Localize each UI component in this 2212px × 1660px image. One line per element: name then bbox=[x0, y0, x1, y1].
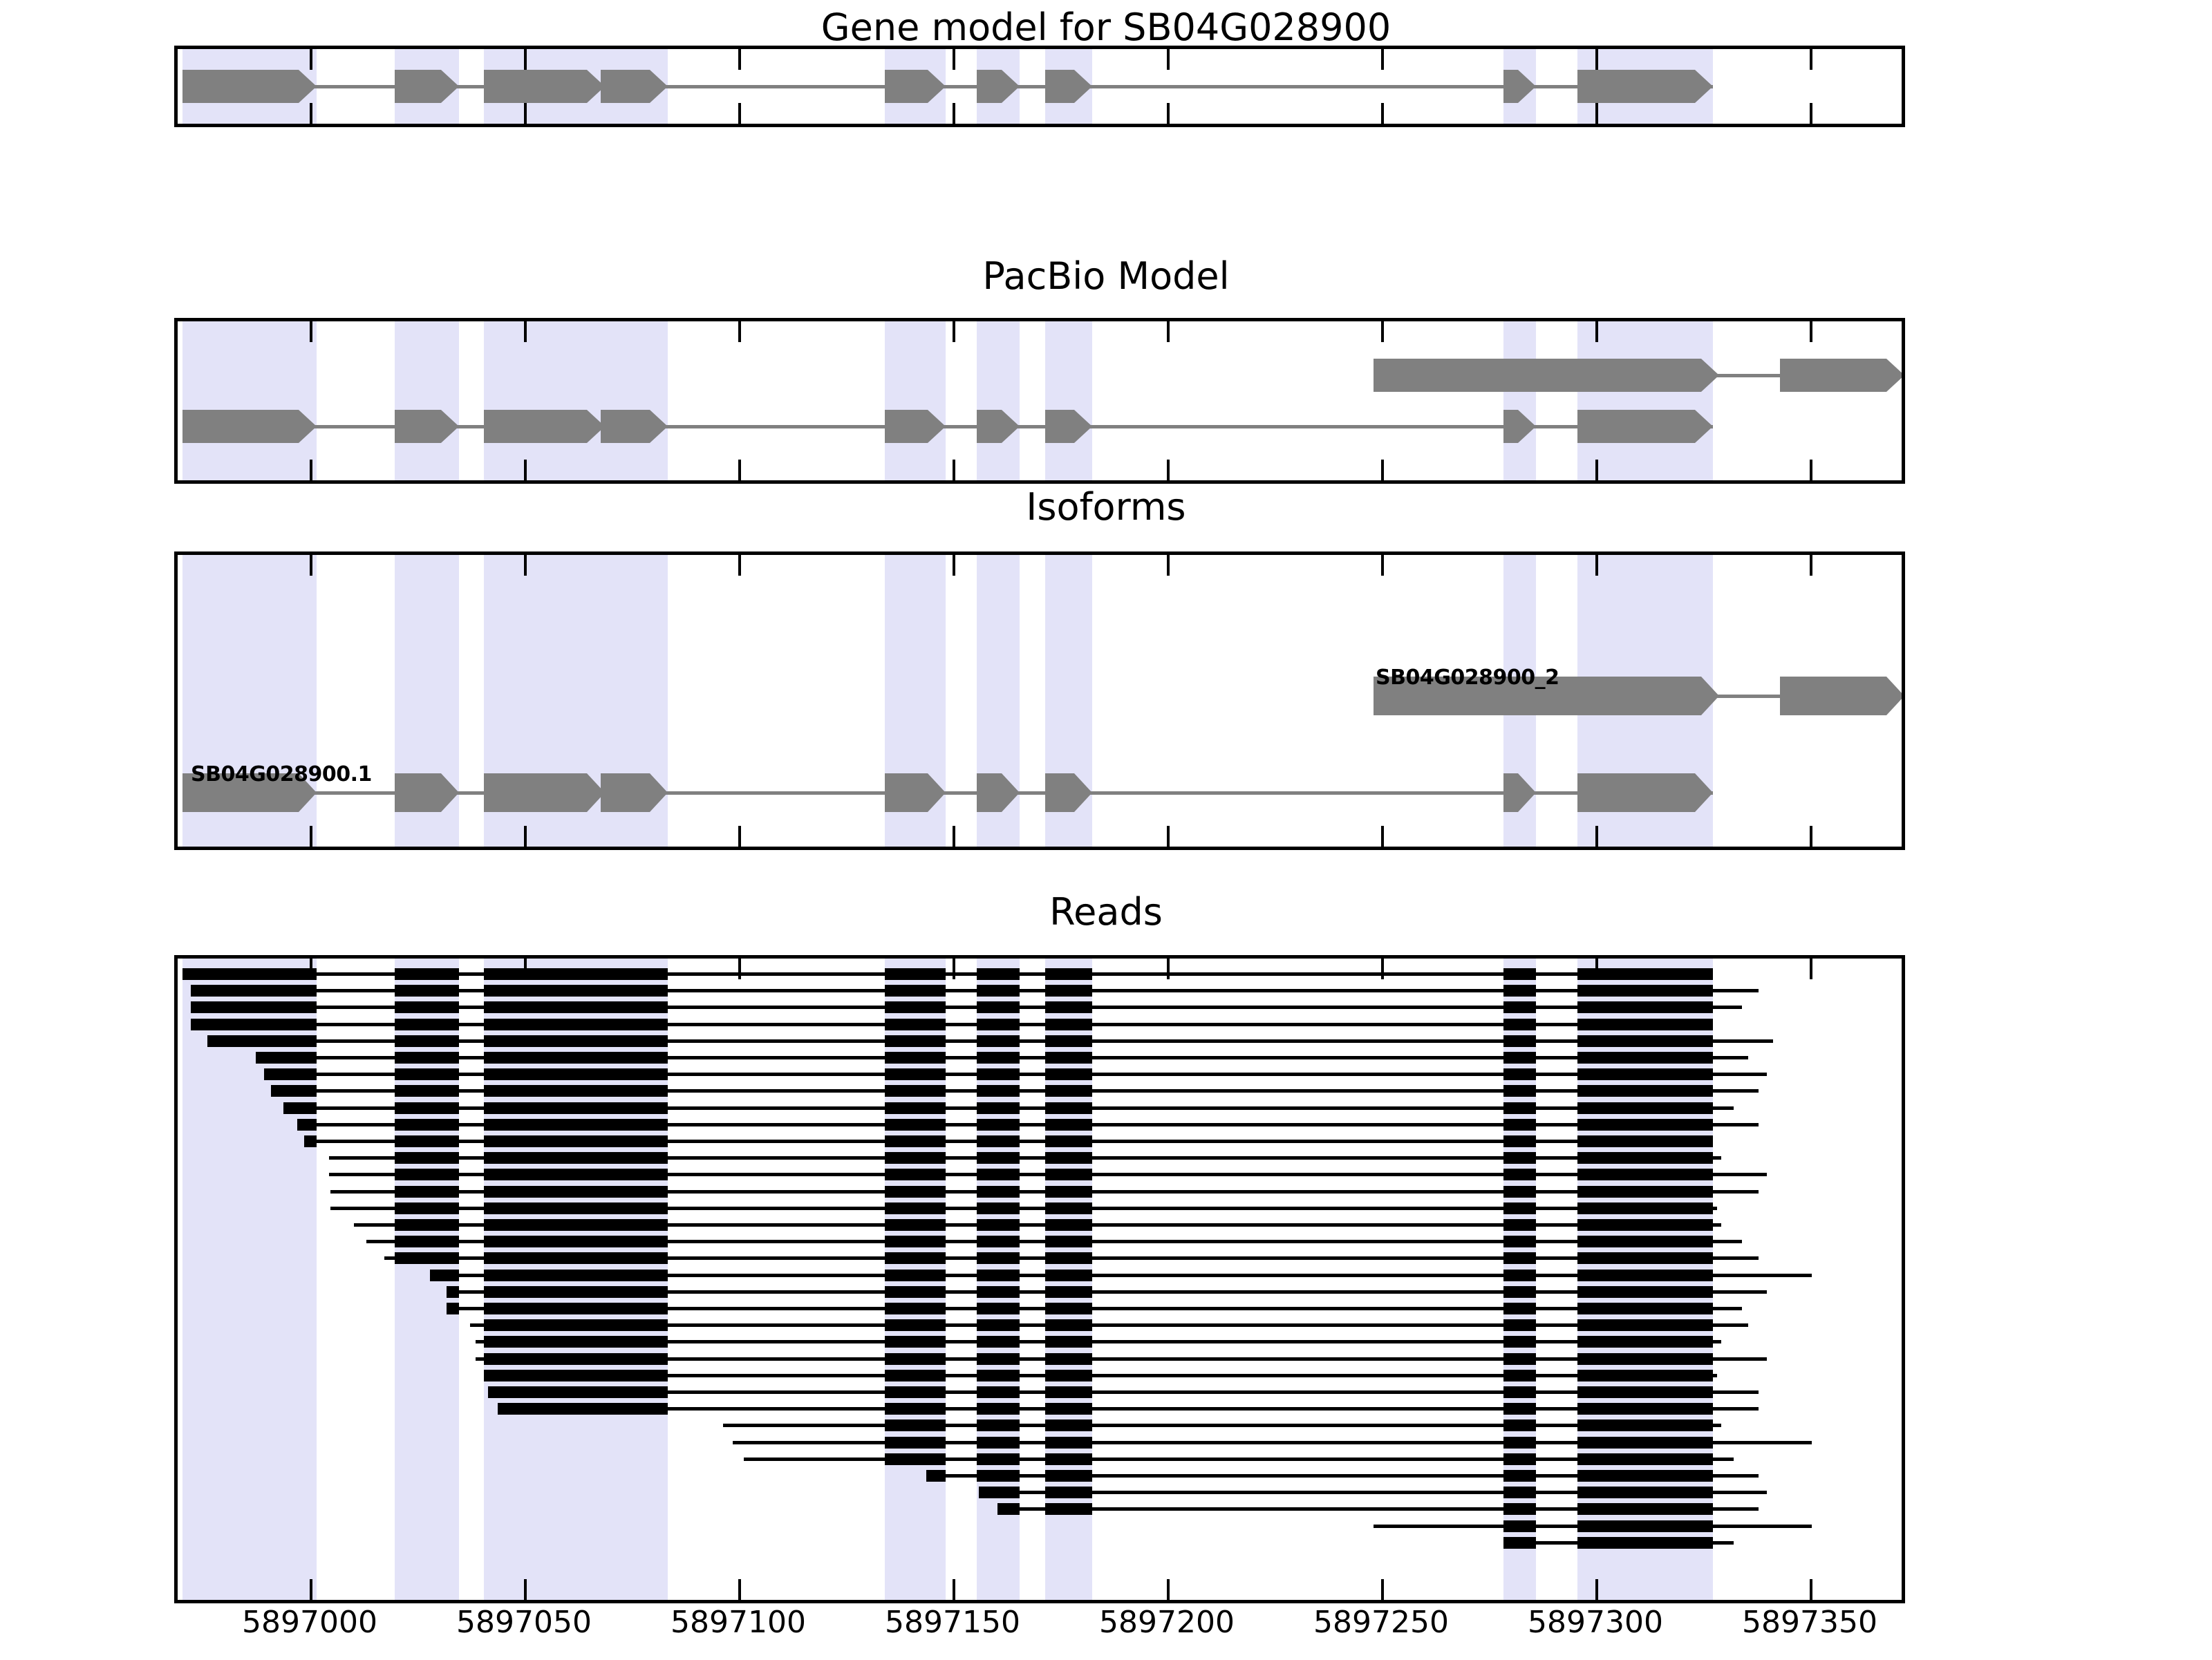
read-exon-block bbox=[1503, 1001, 1536, 1013]
exon-block bbox=[484, 410, 605, 443]
read-exon-block bbox=[484, 1336, 605, 1348]
read-exon-block bbox=[283, 1102, 317, 1114]
read-exon-block bbox=[1577, 1319, 1713, 1331]
read-exon-block bbox=[1503, 1035, 1536, 1047]
read-exon-block bbox=[1577, 1386, 1713, 1398]
read-exon-block bbox=[885, 1370, 946, 1381]
axis-tick-mark bbox=[953, 460, 955, 480]
read-exon-block bbox=[395, 1019, 459, 1030]
read-exon-block bbox=[601, 1202, 668, 1214]
reads-panel bbox=[174, 955, 1905, 1603]
exon-highlight-band bbox=[1503, 321, 1536, 480]
exon-block bbox=[1780, 359, 1904, 392]
read-exon-block bbox=[1503, 1420, 1536, 1431]
read-exon-block bbox=[395, 1001, 459, 1013]
read-exon-block bbox=[1045, 1035, 1092, 1047]
read-exon-block bbox=[1577, 1537, 1713, 1549]
read-exon-block bbox=[977, 1420, 1020, 1431]
axis-tick-mark bbox=[1810, 460, 1812, 480]
gene-model-panel bbox=[174, 46, 1905, 127]
axis-tick-mark bbox=[953, 555, 955, 576]
read-exon-block bbox=[601, 1052, 668, 1064]
read-exon-block bbox=[601, 1169, 668, 1180]
read-exon-block bbox=[1045, 1052, 1092, 1064]
read-exon-block bbox=[977, 1152, 1020, 1164]
read-exon-block bbox=[1045, 1068, 1092, 1080]
read-exon-block bbox=[1045, 1403, 1092, 1415]
read-exon-block bbox=[977, 1470, 1020, 1482]
axis-tick-mark bbox=[1595, 49, 1598, 70]
exon-highlight-band bbox=[182, 321, 317, 480]
read-exon-block bbox=[1503, 1453, 1536, 1465]
axis-tick-mark bbox=[1381, 321, 1384, 342]
axis-tick-mark bbox=[738, 103, 741, 124]
read-exon-block bbox=[1503, 1386, 1536, 1398]
read-exon-block bbox=[484, 1085, 605, 1097]
read-exon-block bbox=[885, 1068, 946, 1080]
read-exon-block bbox=[1577, 1270, 1713, 1281]
read-exon-block bbox=[1503, 968, 1536, 980]
read-exon-block bbox=[601, 1219, 668, 1231]
read-exon-block bbox=[885, 1319, 946, 1331]
read-exon-block bbox=[601, 1370, 668, 1381]
read-exon-block bbox=[484, 1152, 605, 1164]
read-exon-block bbox=[601, 1270, 668, 1281]
read-exon-block bbox=[1045, 1186, 1092, 1198]
exon-block bbox=[484, 70, 605, 103]
read-exon-block bbox=[1577, 1052, 1713, 1064]
isoform-label: SB04G028900_2 bbox=[1376, 666, 1559, 690]
read-exon-block bbox=[304, 1135, 317, 1147]
exon-highlight-band bbox=[1045, 321, 1092, 480]
read-exon-block bbox=[395, 1068, 459, 1080]
read-exon-block bbox=[977, 1186, 1020, 1198]
read-exon-block bbox=[977, 1386, 1020, 1398]
isoforms-panel: SB04G028900_2SB04G028900.1 bbox=[174, 551, 1905, 850]
read-intron-line bbox=[488, 1390, 1759, 1394]
read-exon-block bbox=[1045, 1219, 1092, 1231]
read-exon-block bbox=[1577, 1470, 1713, 1482]
read-exon-block bbox=[979, 1487, 1020, 1498]
read-exon-block bbox=[601, 1102, 668, 1114]
read-exon-block bbox=[191, 1019, 317, 1030]
read-exon-block bbox=[885, 1437, 946, 1449]
read-exon-block bbox=[885, 1219, 946, 1231]
read-exon-block bbox=[601, 985, 668, 997]
read-exon-block bbox=[1577, 1520, 1713, 1532]
read-exon-block bbox=[977, 1403, 1020, 1415]
read-exon-block bbox=[484, 1353, 605, 1365]
read-exon-block bbox=[601, 1286, 668, 1298]
read-exon-block bbox=[1577, 968, 1713, 980]
axis-tick-mark bbox=[310, 826, 312, 847]
read-exon-block bbox=[1577, 1336, 1713, 1348]
axis-tick-mark bbox=[1167, 1579, 1170, 1600]
read-exon-block bbox=[1577, 1102, 1713, 1114]
axis-tick-mark bbox=[1810, 49, 1812, 70]
read-exon-block bbox=[1503, 1503, 1536, 1515]
read-exon-block bbox=[885, 1119, 946, 1131]
read-exon-block bbox=[997, 1503, 1020, 1515]
read-exon-block bbox=[601, 1035, 668, 1047]
axis-tick-mark bbox=[524, 460, 527, 480]
exon-block bbox=[1780, 677, 1904, 715]
read-exon-block bbox=[977, 1068, 1020, 1080]
exon-block bbox=[1577, 70, 1713, 103]
read-exon-block bbox=[977, 1035, 1020, 1047]
reads-title: Reads bbox=[0, 890, 2212, 934]
read-exon-block bbox=[977, 1336, 1020, 1348]
read-exon-block bbox=[1503, 1370, 1536, 1381]
axis-tick-mark bbox=[1381, 959, 1384, 979]
read-exon-block bbox=[1577, 1119, 1713, 1131]
read-exon-block bbox=[395, 1052, 459, 1064]
read-exon-block bbox=[885, 1353, 946, 1365]
read-exon-block bbox=[484, 1052, 605, 1064]
read-exon-block bbox=[601, 1135, 668, 1147]
read-exon-block bbox=[885, 968, 946, 980]
read-exon-block bbox=[1577, 1169, 1713, 1180]
read-exon-block bbox=[447, 1303, 459, 1314]
read-exon-block bbox=[977, 1001, 1020, 1013]
read-exon-block bbox=[1045, 1102, 1092, 1114]
read-exon-block bbox=[885, 1052, 946, 1064]
axis-tick-mark bbox=[738, 826, 741, 847]
read-exon-block bbox=[1577, 1303, 1713, 1314]
read-exon-block bbox=[977, 1052, 1020, 1064]
read-exon-block bbox=[601, 1303, 668, 1314]
read-exon-block bbox=[1045, 1503, 1092, 1515]
read-exon-block bbox=[264, 1068, 317, 1080]
read-exon-block bbox=[1577, 1152, 1713, 1164]
read-exon-block bbox=[395, 1252, 459, 1264]
axis-tick-mark bbox=[524, 555, 527, 576]
read-exon-block bbox=[601, 1186, 668, 1198]
read-exon-block bbox=[395, 1135, 459, 1147]
read-exon-block bbox=[977, 968, 1020, 980]
read-exon-block bbox=[885, 1403, 946, 1415]
exon-highlight-band bbox=[601, 321, 668, 480]
read-exon-block bbox=[885, 1135, 946, 1147]
read-exon-block bbox=[1503, 1437, 1536, 1449]
isoform-label: SB04G028900.1 bbox=[191, 762, 372, 786]
read-exon-block bbox=[885, 1336, 946, 1348]
axis-tick-mark bbox=[953, 959, 955, 979]
axis-tick-mark bbox=[738, 555, 741, 576]
read-exon-block bbox=[977, 1286, 1020, 1298]
read-exon-block bbox=[484, 1286, 605, 1298]
read-exon-block bbox=[484, 1135, 605, 1147]
read-exon-block bbox=[395, 1186, 459, 1198]
read-exon-block bbox=[1577, 1001, 1713, 1013]
read-exon-block bbox=[1045, 1437, 1092, 1449]
axis-tick-mark bbox=[310, 460, 312, 480]
read-exon-block bbox=[498, 1403, 605, 1415]
read-exon-block bbox=[977, 985, 1020, 997]
read-exon-block bbox=[1503, 1119, 1536, 1131]
read-exon-block bbox=[601, 1068, 668, 1080]
read-exon-block bbox=[601, 1336, 668, 1348]
read-exon-block bbox=[977, 1319, 1020, 1331]
read-exon-block bbox=[488, 1386, 605, 1398]
axis-tick-mark bbox=[310, 49, 312, 70]
read-exon-block bbox=[1503, 1470, 1536, 1482]
figure-canvas: Gene model for SB04G028900 PacBio Model … bbox=[0, 0, 2212, 1659]
read-exon-block bbox=[885, 1202, 946, 1214]
read-exon-block bbox=[271, 1085, 317, 1097]
read-exon-block bbox=[1045, 1420, 1092, 1431]
axis-tick-mark bbox=[1167, 959, 1170, 979]
read-exon-block bbox=[1577, 1487, 1713, 1498]
read-exon-block bbox=[601, 1353, 668, 1365]
x-tick-label: 5897100 bbox=[628, 1605, 849, 1640]
axis-tick-mark bbox=[310, 321, 312, 342]
axis-tick-mark bbox=[1595, 103, 1598, 124]
read-exon-block bbox=[885, 1386, 946, 1398]
read-exon-block bbox=[1577, 1403, 1713, 1415]
axis-tick-mark bbox=[1167, 826, 1170, 847]
read-exon-block bbox=[1577, 1085, 1713, 1097]
read-exon-block bbox=[1503, 1068, 1536, 1080]
read-exon-block bbox=[191, 985, 317, 997]
read-exon-block bbox=[1503, 1085, 1536, 1097]
isoforms-title: Isoforms bbox=[0, 485, 2212, 529]
axis-tick-mark bbox=[1810, 555, 1812, 576]
read-exon-block bbox=[430, 1270, 459, 1281]
read-exon-block bbox=[1503, 1102, 1536, 1114]
axis-tick-mark bbox=[738, 460, 741, 480]
exon-highlight-band bbox=[1577, 321, 1713, 480]
read-exon-block bbox=[1503, 1286, 1536, 1298]
read-exon-block bbox=[1577, 1420, 1713, 1431]
x-axis-tick-labels: 5897000589705058971005897150589720058972… bbox=[0, 1605, 2212, 1660]
read-exon-block bbox=[601, 1001, 668, 1013]
read-exon-block bbox=[885, 1453, 946, 1465]
read-exon-block bbox=[447, 1286, 459, 1298]
read-exon-block bbox=[395, 1035, 459, 1047]
read-exon-block bbox=[1577, 1068, 1713, 1080]
read-exon-block bbox=[484, 968, 605, 980]
axis-tick-mark bbox=[524, 103, 527, 124]
axis-tick-mark bbox=[1810, 321, 1812, 342]
read-exon-block bbox=[484, 1202, 605, 1214]
read-exon-block bbox=[1503, 1169, 1536, 1180]
axis-tick-mark bbox=[1381, 1579, 1384, 1600]
read-exon-block bbox=[1503, 1319, 1536, 1331]
read-exon-block bbox=[1577, 1353, 1713, 1365]
read-exon-block bbox=[977, 1370, 1020, 1381]
read-exon-block bbox=[484, 1319, 605, 1331]
axis-tick-mark bbox=[953, 826, 955, 847]
read-exon-block bbox=[1045, 1085, 1092, 1097]
read-exon-block bbox=[1045, 1270, 1092, 1281]
read-exon-block bbox=[256, 1052, 317, 1064]
read-exon-block bbox=[1045, 1019, 1092, 1030]
axis-tick-mark bbox=[1810, 1579, 1812, 1600]
read-exon-block bbox=[1045, 1252, 1092, 1264]
read-exon-block bbox=[484, 1370, 605, 1381]
read-exon-block bbox=[1577, 1437, 1713, 1449]
read-exon-block bbox=[1503, 1152, 1536, 1164]
read-exon-block bbox=[395, 968, 459, 980]
read-exon-block bbox=[1045, 1386, 1092, 1398]
read-exon-block bbox=[484, 1186, 605, 1198]
exon-highlight-band bbox=[395, 321, 459, 480]
read-exon-block bbox=[885, 985, 946, 997]
read-exon-block bbox=[977, 1169, 1020, 1180]
read-exon-block bbox=[885, 1169, 946, 1180]
axis-tick-mark bbox=[1167, 555, 1170, 576]
axis-tick-mark bbox=[953, 1579, 955, 1600]
axis-tick-mark bbox=[1810, 959, 1812, 979]
read-intron-line bbox=[476, 1357, 1767, 1361]
read-exon-block bbox=[297, 1119, 317, 1131]
read-exon-block bbox=[885, 1186, 946, 1198]
read-exon-block bbox=[1045, 1470, 1092, 1482]
pacbio-model-title: PacBio Model bbox=[0, 254, 2212, 298]
read-exon-block bbox=[1045, 1286, 1092, 1298]
read-exon-block bbox=[207, 1035, 317, 1047]
read-exon-block bbox=[182, 968, 317, 980]
read-exon-block bbox=[1503, 1353, 1536, 1365]
read-exon-block bbox=[977, 1236, 1020, 1247]
axis-tick-mark bbox=[738, 1579, 741, 1600]
read-exon-block bbox=[395, 1219, 459, 1231]
read-exon-block bbox=[484, 1169, 605, 1180]
read-exon-block bbox=[1045, 1303, 1092, 1314]
read-exon-block bbox=[484, 1119, 605, 1131]
read-exon-block bbox=[395, 1085, 459, 1097]
read-exon-block bbox=[885, 1303, 946, 1314]
read-exon-block bbox=[484, 1270, 605, 1281]
axis-tick-mark bbox=[1167, 103, 1170, 124]
read-exon-block bbox=[1503, 1537, 1536, 1549]
read-exon-block bbox=[1577, 1219, 1713, 1231]
read-exon-block bbox=[1503, 1270, 1536, 1281]
read-exon-block bbox=[1503, 985, 1536, 997]
axis-tick-mark bbox=[1595, 321, 1598, 342]
read-exon-block bbox=[601, 1019, 668, 1030]
read-exon-block bbox=[1045, 1453, 1092, 1465]
read-exon-block bbox=[926, 1470, 946, 1482]
read-exon-block bbox=[484, 1035, 605, 1047]
exon-block bbox=[182, 410, 317, 443]
read-exon-block bbox=[1577, 1236, 1713, 1247]
axis-tick-mark bbox=[1381, 49, 1384, 70]
read-exon-block bbox=[484, 1102, 605, 1114]
read-exon-block bbox=[1045, 1319, 1092, 1331]
axis-tick-mark bbox=[1810, 826, 1812, 847]
read-exon-block bbox=[977, 1119, 1020, 1131]
axis-tick-mark bbox=[310, 103, 312, 124]
read-exon-block bbox=[1577, 1503, 1713, 1515]
read-exon-block bbox=[977, 1102, 1020, 1114]
axis-tick-mark bbox=[953, 321, 955, 342]
read-exon-block bbox=[1045, 1336, 1092, 1348]
axis-tick-mark bbox=[310, 1579, 312, 1600]
read-exon-block bbox=[1577, 1035, 1713, 1047]
read-exon-block bbox=[1577, 1370, 1713, 1381]
read-exon-block bbox=[977, 1303, 1020, 1314]
read-intron-line bbox=[723, 1424, 1721, 1427]
axis-tick-mark bbox=[1167, 321, 1170, 342]
read-exon-block bbox=[395, 1119, 459, 1131]
read-exon-block bbox=[1503, 1219, 1536, 1231]
read-exon-block bbox=[977, 1270, 1020, 1281]
read-exon-block bbox=[1045, 1487, 1092, 1498]
read-intron-line bbox=[498, 1407, 1759, 1411]
axis-tick-mark bbox=[1595, 555, 1598, 576]
read-exon-block bbox=[1045, 1119, 1092, 1131]
axis-tick-mark bbox=[1381, 460, 1384, 480]
exon-block bbox=[1577, 773, 1713, 812]
axis-tick-mark bbox=[524, 49, 527, 70]
read-exon-block bbox=[1577, 985, 1713, 997]
axis-tick-mark bbox=[1381, 103, 1384, 124]
x-tick-label: 5897300 bbox=[1485, 1605, 1706, 1640]
x-tick-label: 5897200 bbox=[1056, 1605, 1277, 1640]
figure-title: Gene model for SB04G028900 bbox=[0, 6, 2212, 49]
read-exon-block bbox=[1045, 1370, 1092, 1381]
read-exon-block bbox=[484, 985, 605, 997]
read-exon-block bbox=[977, 1202, 1020, 1214]
read-exon-block bbox=[1045, 968, 1092, 980]
read-exon-block bbox=[977, 1437, 1020, 1449]
read-exon-block bbox=[885, 1019, 946, 1030]
read-exon-block bbox=[885, 1035, 946, 1047]
exon-highlight-band bbox=[484, 321, 605, 480]
read-exon-block bbox=[484, 1236, 605, 1247]
read-exon-block bbox=[601, 1319, 668, 1331]
read-exon-block bbox=[1503, 1403, 1536, 1415]
read-exon-block bbox=[601, 1403, 668, 1415]
read-exon-block bbox=[1503, 1019, 1536, 1030]
read-exon-block bbox=[1577, 1186, 1713, 1198]
read-exon-block bbox=[1045, 1169, 1092, 1180]
read-exon-block bbox=[1045, 1353, 1092, 1365]
axis-tick-mark bbox=[1167, 49, 1170, 70]
axis-tick-mark bbox=[1595, 1579, 1598, 1600]
read-exon-block bbox=[1503, 1236, 1536, 1247]
read-exon-block bbox=[601, 1119, 668, 1131]
read-exon-block bbox=[885, 1270, 946, 1281]
axis-tick-mark bbox=[310, 555, 312, 576]
read-exon-block bbox=[1045, 1001, 1092, 1013]
axis-tick-mark bbox=[1381, 826, 1384, 847]
read-exon-block bbox=[977, 1019, 1020, 1030]
axis-tick-mark bbox=[1595, 460, 1598, 480]
read-exon-block bbox=[885, 1286, 946, 1298]
read-exon-block bbox=[191, 1001, 317, 1013]
read-exon-block bbox=[484, 1068, 605, 1080]
exon-block bbox=[484, 773, 605, 812]
read-exon-block bbox=[1045, 1152, 1092, 1164]
read-exon-block bbox=[1503, 1520, 1536, 1532]
read-exon-block bbox=[885, 1102, 946, 1114]
axis-tick-mark bbox=[1810, 103, 1812, 124]
read-exon-block bbox=[395, 1202, 459, 1214]
read-exon-block bbox=[1045, 1135, 1092, 1147]
read-exon-block bbox=[1503, 1487, 1536, 1498]
pacbio-model-panel bbox=[174, 318, 1905, 484]
axis-tick-mark bbox=[953, 49, 955, 70]
axis-tick-mark bbox=[953, 103, 955, 124]
read-exon-block bbox=[1503, 1052, 1536, 1064]
read-exon-block bbox=[484, 1001, 605, 1013]
exon-highlight-band bbox=[885, 321, 946, 480]
exon-block bbox=[1577, 410, 1713, 443]
read-exon-block bbox=[1503, 1186, 1536, 1198]
